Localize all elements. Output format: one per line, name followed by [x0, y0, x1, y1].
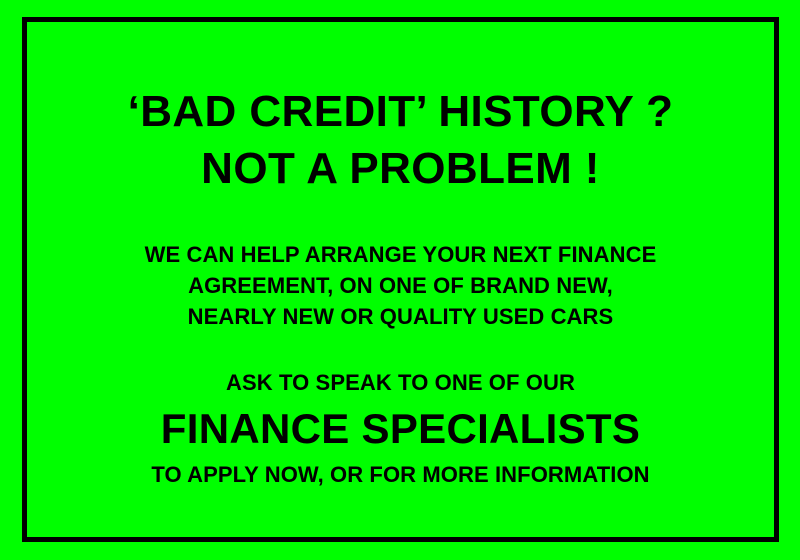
advertisement-poster: ‘BAD CREDIT’ HISTORY ? NOT A PROBLEM ! W… [0, 0, 800, 560]
body-copy-block: WE CAN HELP ARRANGE YOUR NEXT FINANCE AG… [27, 239, 774, 333]
headline-line-1: ‘BAD CREDIT’ HISTORY ? [27, 84, 774, 139]
call-to-action-block: ASK TO SPEAK TO ONE OF OUR FINANCE SPECI… [27, 367, 774, 491]
poster-content: ‘BAD CREDIT’ HISTORY ? NOT A PROBLEM ! W… [27, 22, 774, 537]
cta-headline-finance-specialists: FINANCE SPECIALISTS [27, 404, 774, 454]
body-copy-line-1: WE CAN HELP ARRANGE YOUR NEXT FINANCE [27, 239, 774, 270]
body-copy-line-2: AGREEMENT, ON ONE OF BRAND NEW, [27, 270, 774, 301]
cta-tail-text: TO APPLY NOW, OR FOR MORE INFORMATION [27, 459, 774, 490]
headline-block: ‘BAD CREDIT’ HISTORY ? NOT A PROBLEM ! [27, 84, 774, 197]
headline-line-2: NOT A PROBLEM ! [27, 141, 774, 196]
cta-lead-text: ASK TO SPEAK TO ONE OF OUR [27, 367, 774, 398]
body-copy-line-3: NEARLY NEW OR QUALITY USED CARS [27, 301, 774, 332]
